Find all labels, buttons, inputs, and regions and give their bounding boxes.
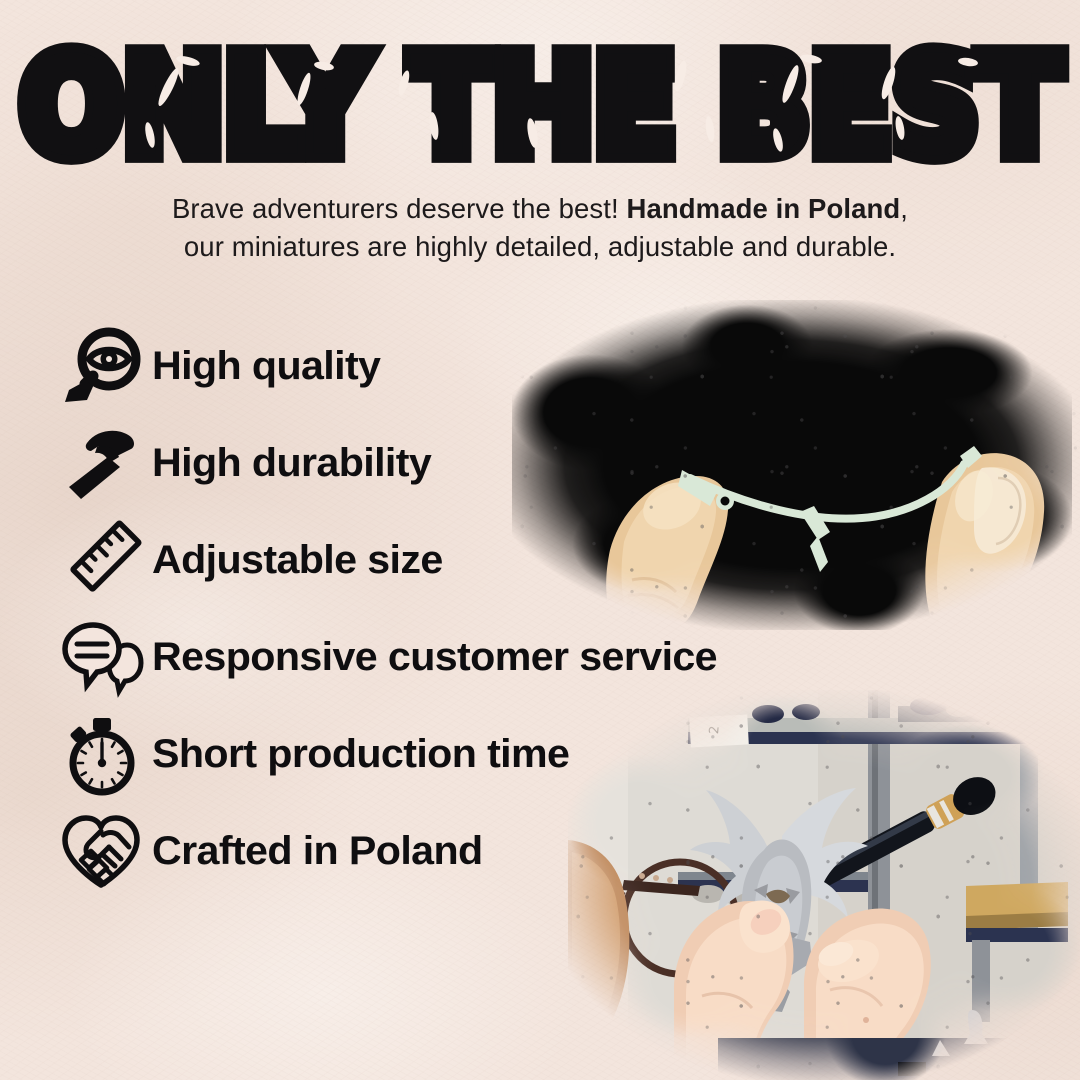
svg-text:2: 2 [707,725,723,735]
speech-bubbles-icon [58,615,144,701]
feature-label: Short production time [152,732,569,777]
feature-label: Responsive customer service [152,635,717,680]
subtitle-highlight: Handmade in Poland [627,193,901,224]
hammer-icon [58,421,144,507]
subtitle-lead: Brave adventurers deserve the best! [172,193,627,224]
page-title: ONLY THE BEST [0,38,1080,175]
stopwatch-icon [58,712,144,798]
workshop-painting-photo: 2 [568,690,1080,1080]
subtitle-tail: , [900,193,908,224]
feature-label: Crafted in Poland [152,829,483,874]
feature-item: High quality [0,318,640,415]
subtitle: Brave adventurers deserve the best! Hand… [60,190,1020,266]
headline-block: ONLY THE BEST [0,0,1080,185]
subtitle-line-2: our miniatures are highly detailed, adju… [184,231,896,262]
feature-label: High quality [152,344,380,389]
ruler-icon [58,518,144,604]
feature-label: High durability [152,441,431,486]
feature-label: Adjustable size [152,538,443,583]
workshop-painting-illustration: 2 [568,690,1080,1080]
heart-handshake-icon [58,809,144,895]
promo-graphic: 2 [0,0,1080,1080]
feature-item: Short production time [0,706,640,803]
feature-item: Responsive customer service [0,609,640,706]
feature-list: High quality High durability [0,318,640,900]
feature-item: Adjustable size [0,512,640,609]
magnifier-eye-icon [58,324,144,410]
feature-item: Crafted in Poland [0,803,640,900]
feature-item: High durability [0,415,640,512]
